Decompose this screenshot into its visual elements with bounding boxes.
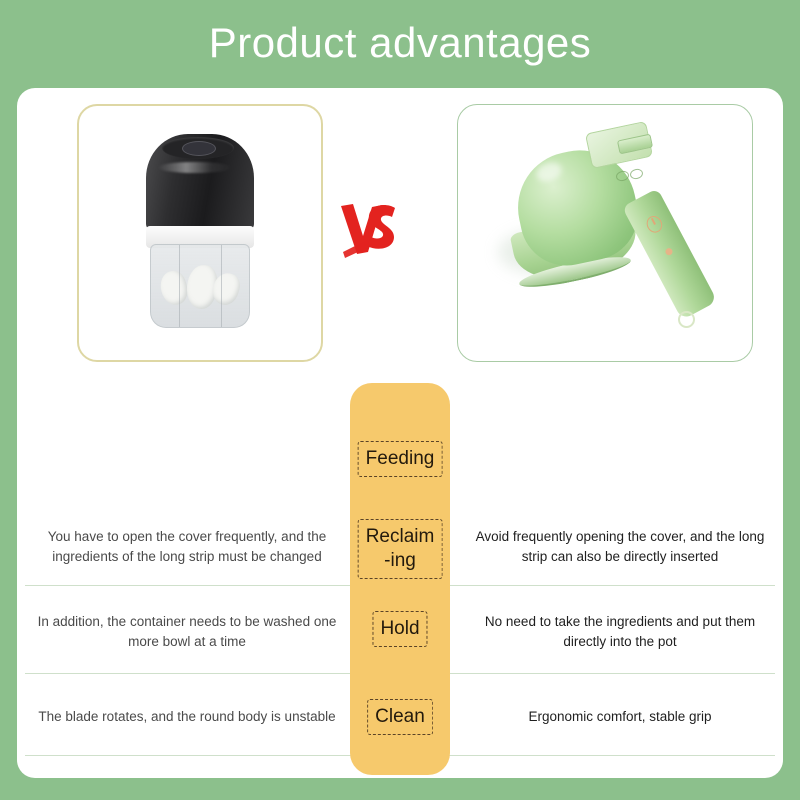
cutter-vent-icon [629,168,644,180]
chopper-lid-highlight [158,162,232,173]
vs-badge-icon [327,188,413,274]
chopper-transparent-bowl [150,244,250,328]
category-badge-reclaiming[interactable]: Reclaim -ing [358,519,443,579]
hanging-loop-icon [678,311,695,328]
row-left-text: You have to open the cover frequently, a… [17,527,357,567]
content-card: You have to open the cover frequently, a… [17,88,783,778]
product-image-card-right[interactable] [457,104,753,362]
handheld-vegetable-cutter-icon [492,125,720,343]
garlic-chopper-icon [144,134,256,330]
chopper-power-button-icon [182,141,216,156]
row-right-text: Ergonomic comfort, stable grip [457,707,783,727]
row-right-text: Avoid frequently opening the cover, and … [457,527,783,567]
cutter-handle [622,188,717,320]
bowl-seam [179,245,180,328]
category-badge-clean[interactable]: Clean [367,699,433,735]
product-comparison-images [17,88,783,383]
product-image-card-left[interactable] [77,104,323,362]
category-badge-feeding[interactable]: Feeding [358,441,443,477]
row-right-text: No need to take the ingredients and put … [457,612,783,652]
page-title: Product advantages [0,12,800,74]
power-button-icon [644,213,665,235]
row-left-text: The blade rotates, and the round body is… [17,707,357,727]
bowl-seam [221,245,222,328]
category-badge-hold[interactable]: Hold [372,611,427,647]
row-left-text: In addition, the container needs to be w… [17,612,357,652]
led-indicator-icon [664,247,673,256]
garlic-clove [157,268,190,307]
category-strip: Feeding Reclaim -ing Hold Clean [350,383,450,775]
